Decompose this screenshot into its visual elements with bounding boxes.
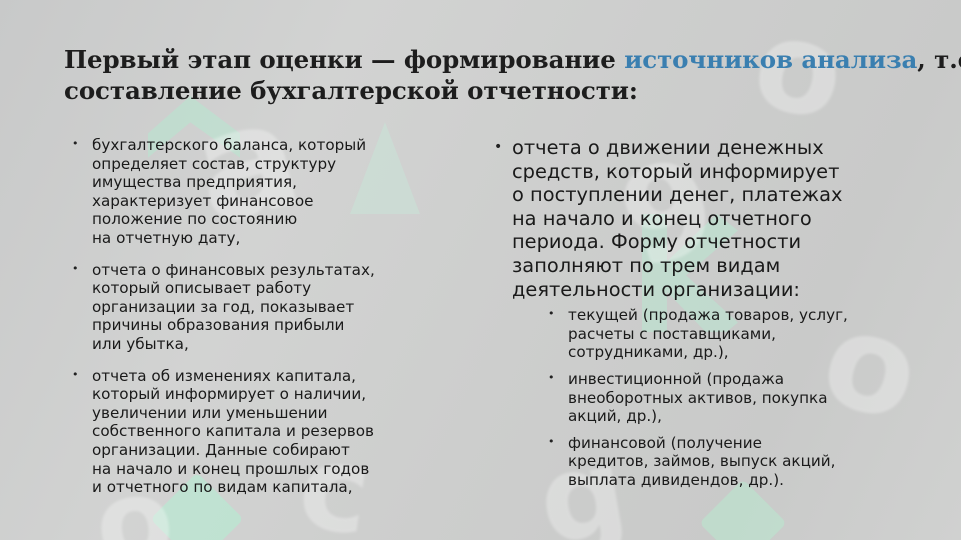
sub-bullet-marker-icon: • xyxy=(548,305,555,324)
text-line: характеризует финансовое xyxy=(92,192,466,211)
right-content-column: • отчета о движении денежных средств, ко… xyxy=(488,136,908,501)
list-item-text: финансовой (получение кредитов, займов, … xyxy=(568,434,908,490)
text-line: финансовой (получение xyxy=(568,434,908,453)
text-line: отчета о финансовых результатах, xyxy=(92,261,466,280)
text-line: периода. Форму отчетности xyxy=(512,230,908,254)
right-bullet-list: • отчета о движении денежных средств, ко… xyxy=(488,136,908,490)
title-accent-text: источников анализа xyxy=(624,45,917,74)
presentation-slide: a o g o c o 9 Первый этап оценки — форми… xyxy=(0,0,961,540)
list-item: • текущей (продажа товаров, услуг, расче… xyxy=(544,306,908,362)
text-line: сотрудниками, др.), xyxy=(568,343,908,362)
text-line: внеоборотных активов, покупка xyxy=(568,389,908,408)
text-line: причины образования прибыли xyxy=(92,316,466,335)
list-item-text: отчета о движении денежных средств, кото… xyxy=(512,136,908,301)
bullet-marker-icon: • xyxy=(72,135,79,154)
title-text-before: Первый этап оценки — формирование xyxy=(64,45,624,74)
text-line: деятельности организации: xyxy=(512,278,908,302)
text-line: и отчетного по видам капитала, xyxy=(92,478,466,497)
right-sub-bullet-list: • текущей (продажа товаров, услуг, расче… xyxy=(512,306,908,489)
text-line: на начало и конец прошлых годов xyxy=(92,460,466,479)
left-bullet-list: • бухгалтерского баланса, который опреде… xyxy=(66,136,466,497)
bullet-marker-icon: • xyxy=(72,260,79,279)
text-line: отчета о движении денежных xyxy=(512,136,908,160)
list-item-text: текущей (продажа товаров, услуг, расчеты… xyxy=(568,306,908,362)
text-line: о поступлении денег, платежах xyxy=(512,183,908,207)
title-line-2: составление бухгалтерской отчетности: xyxy=(64,75,916,106)
text-line: акций, др.), xyxy=(568,407,908,426)
list-item: • финансовой (получение кредитов, займов… xyxy=(544,434,908,490)
text-line: кредитов, займов, выпуск акций, xyxy=(568,452,908,471)
text-line: отчета об изменениях капитала, xyxy=(92,367,466,386)
list-item: • отчета о финансовых результатах, котор… xyxy=(66,261,466,354)
text-line: средств, который информирует xyxy=(512,160,908,184)
list-item-text: отчета об изменениях капитала, который и… xyxy=(92,367,466,497)
text-line: выплата дивидендов, др.). xyxy=(568,471,908,490)
list-item: • отчета об изменениях капитала, который… xyxy=(66,367,466,497)
sub-bullet-marker-icon: • xyxy=(548,433,555,452)
text-line: на начало и конец отчетного xyxy=(512,207,908,231)
left-content-column: • бухгалтерского баланса, который опреде… xyxy=(66,136,466,508)
title-text-after: , т.е. xyxy=(917,45,961,74)
text-line: или убытка, xyxy=(92,335,466,354)
text-line: который информирует о наличии, xyxy=(92,385,466,404)
text-line: бухгалтерского баланса, который xyxy=(92,136,466,155)
text-line: организации. Данные собирают xyxy=(92,441,466,460)
list-item: • бухгалтерского баланса, который опреде… xyxy=(66,136,466,248)
text-line: текущей (продажа товаров, услуг, xyxy=(568,306,908,325)
sub-bullet-marker-icon: • xyxy=(548,369,555,388)
text-line: заполняют по трем видам xyxy=(512,254,908,278)
title-line-1: Первый этап оценки — формирование источн… xyxy=(64,44,916,75)
text-line: организации за год, показывает xyxy=(92,298,466,317)
text-line: который описывает работу xyxy=(92,279,466,298)
slide-title: Первый этап оценки — формирование источн… xyxy=(64,44,916,106)
bullet-marker-icon: • xyxy=(72,366,79,385)
text-line: имущества предприятия, xyxy=(92,173,466,192)
text-line: расчеты с поставщиками, xyxy=(568,325,908,344)
text-line: увеличении или уменьшении xyxy=(92,404,466,423)
list-item-text: бухгалтерского баланса, который определя… xyxy=(92,136,466,248)
list-item-text: инвестиционной (продажа внеоборотных акт… xyxy=(568,370,908,426)
text-line: на отчетную дату, xyxy=(92,229,466,248)
text-line: собственного капитала и резервов xyxy=(92,422,466,441)
text-line: положение по состоянию xyxy=(92,210,466,229)
list-item: • инвестиционной (продажа внеоборотных а… xyxy=(544,370,908,426)
list-item: • отчета о движении денежных средств, ко… xyxy=(488,136,908,490)
list-item-text: отчета о финансовых результатах, который… xyxy=(92,261,466,354)
text-line: инвестиционной (продажа xyxy=(568,370,908,389)
bullet-marker-icon: • xyxy=(494,136,502,160)
text-line: определяет состав, структуру xyxy=(92,155,466,174)
